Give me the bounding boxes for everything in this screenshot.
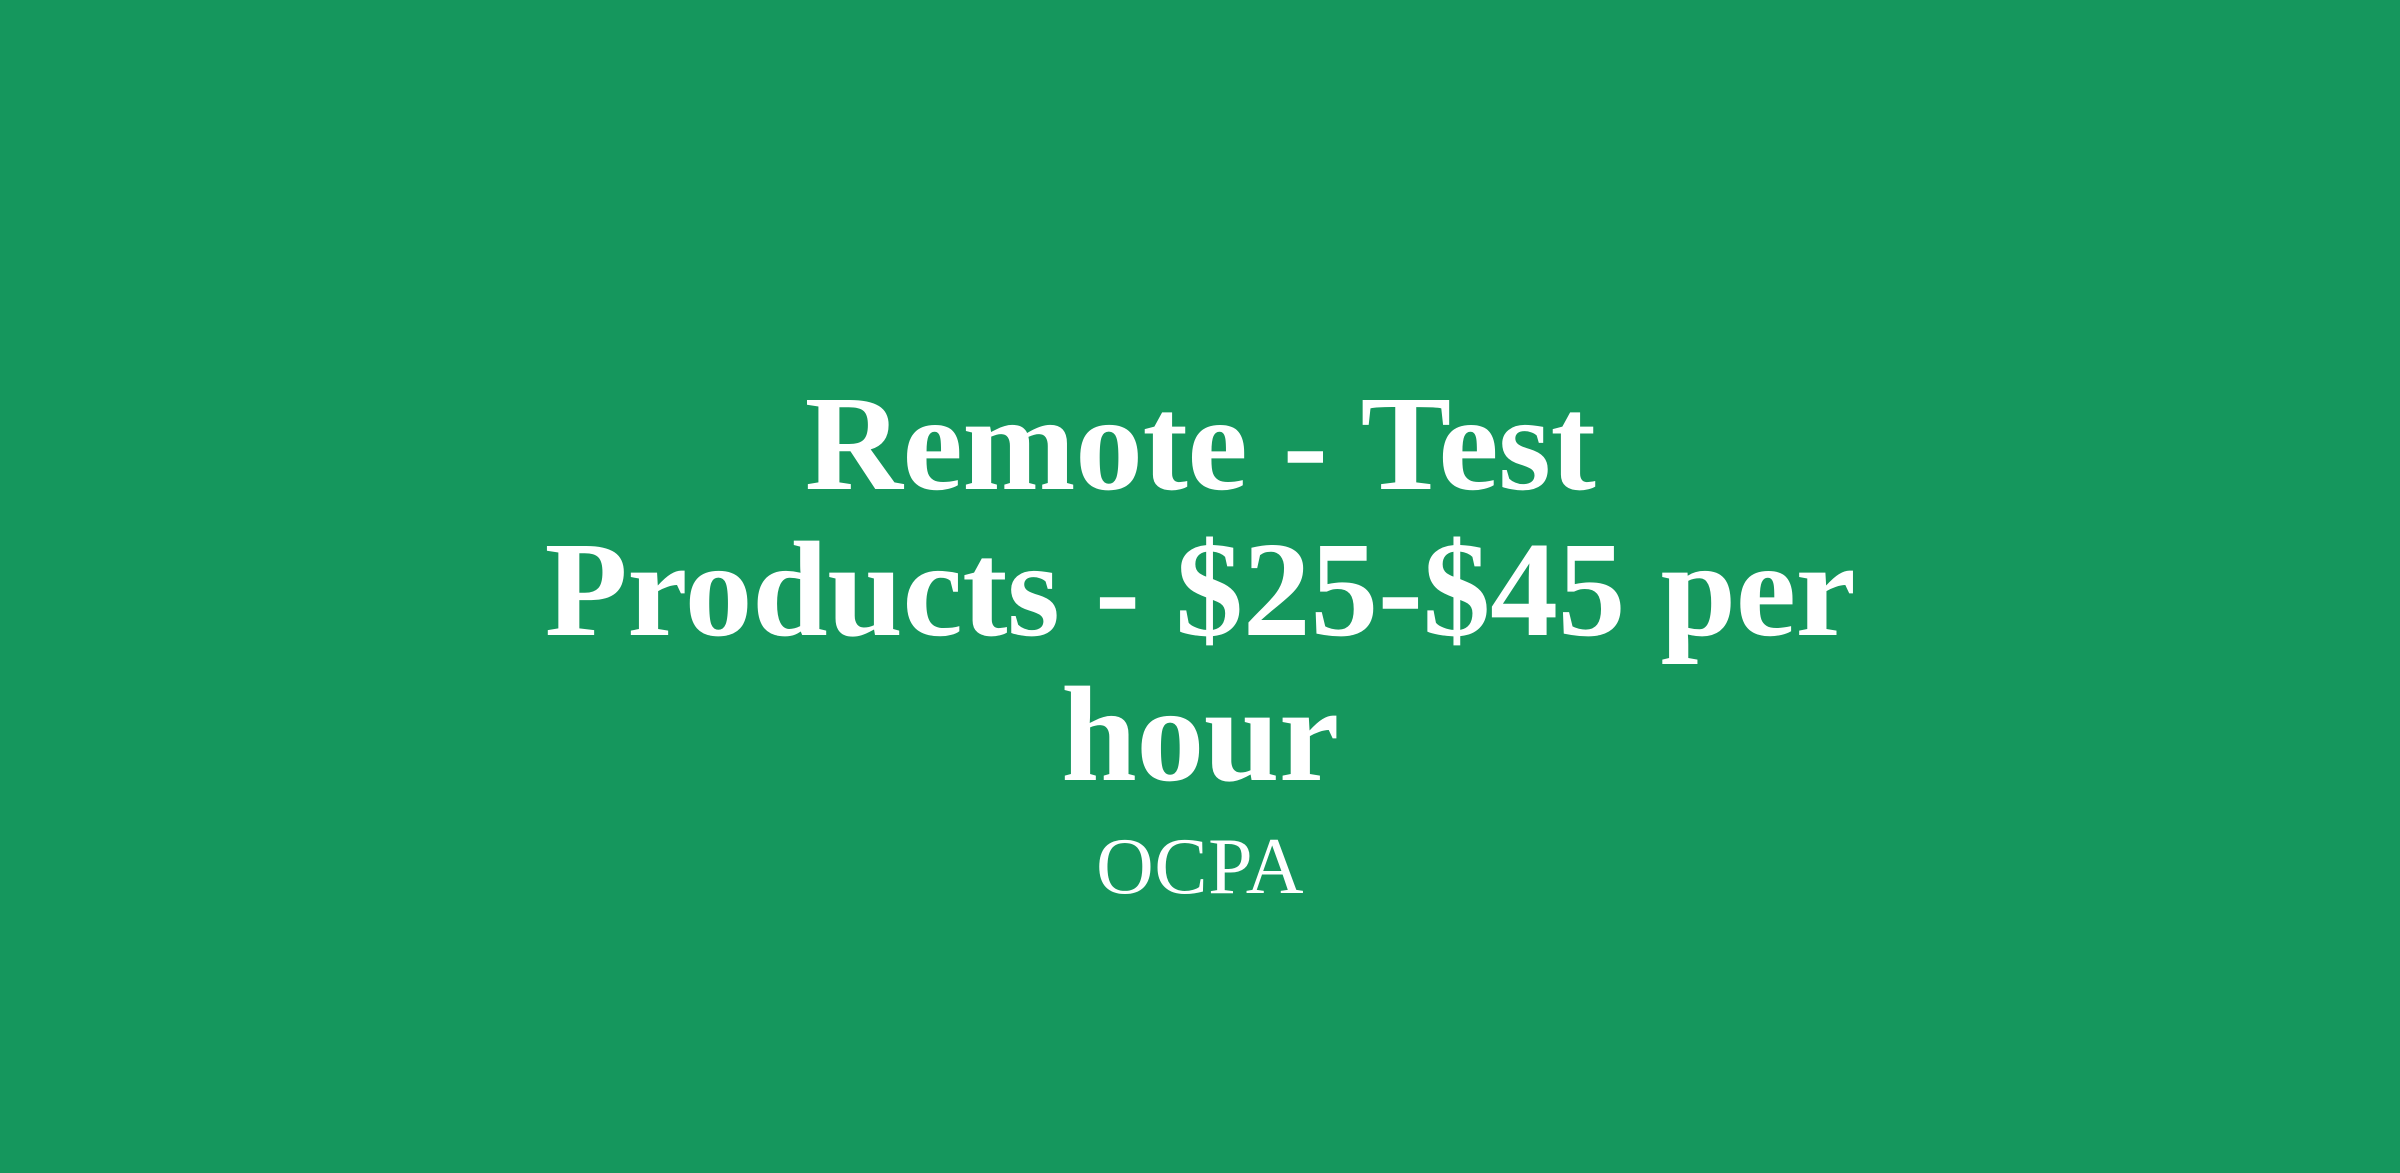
job-listing-banner: Remote - Test Products - $25-$45 per hou…: [0, 0, 2400, 1173]
organization-name: OCPA: [1096, 823, 1304, 911]
banner-text-block: Remote - Test Products - $25-$45 per hou…: [0, 372, 2400, 911]
page-title: Remote - Test Products - $25-$45 per hou…: [540, 372, 1860, 809]
